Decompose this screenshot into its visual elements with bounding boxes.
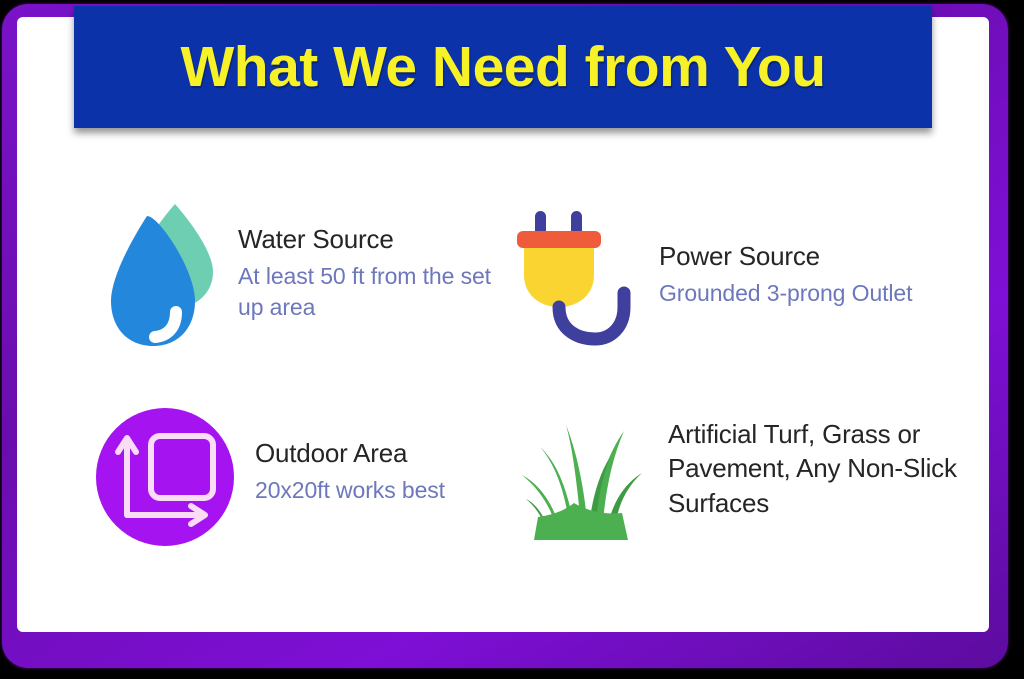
surface-type-text-block: Artificial Turf, Grass or Pavement, Any … [668, 417, 989, 520]
requirement-heading-power: Power Source [659, 240, 912, 273]
requirement-item-outdoor-area: Outdoor Area 20x20ft works best [17, 375, 503, 590]
requirement-heading-water: Water Source [238, 223, 503, 256]
requirement-sub-water: At least 50 ft from the set up area [238, 261, 503, 322]
outdoor-area-icon [95, 407, 235, 547]
requirement-item-water-source: Water Source At least 50 ft from the set… [17, 160, 503, 375]
requirement-heading-surface: Artificial Turf, Grass or Pavement, Any … [668, 417, 989, 520]
requirement-item-surface-type: Artificial Turf, Grass or Pavement, Any … [503, 375, 989, 590]
requirement-sub-power: Grounded 3-prong Outlet [659, 278, 912, 308]
slide-root: What We Need from You Water Source At le… [0, 0, 1024, 679]
grass-turf-icon [515, 407, 650, 547]
power-source-text-block: Power Source Grounded 3-prong Outlet [659, 240, 912, 309]
water-drop-icon [102, 198, 220, 353]
requirement-sub-outdoor: 20x20ft works best [255, 475, 445, 505]
requirement-item-power-source: Power Source Grounded 3-prong Outlet [503, 160, 989, 375]
requirements-grid: Water Source At least 50 ft from the set… [17, 160, 989, 590]
requirement-heading-outdoor: Outdoor Area [255, 437, 445, 470]
title-banner: What We Need from You [74, 6, 932, 128]
outdoor-area-text-block: Outdoor Area 20x20ft works best [255, 437, 445, 506]
page-title: What We Need from You [180, 39, 825, 96]
power-plug-icon [511, 203, 641, 348]
water-source-text-block: Water Source At least 50 ft from the set… [238, 223, 503, 322]
